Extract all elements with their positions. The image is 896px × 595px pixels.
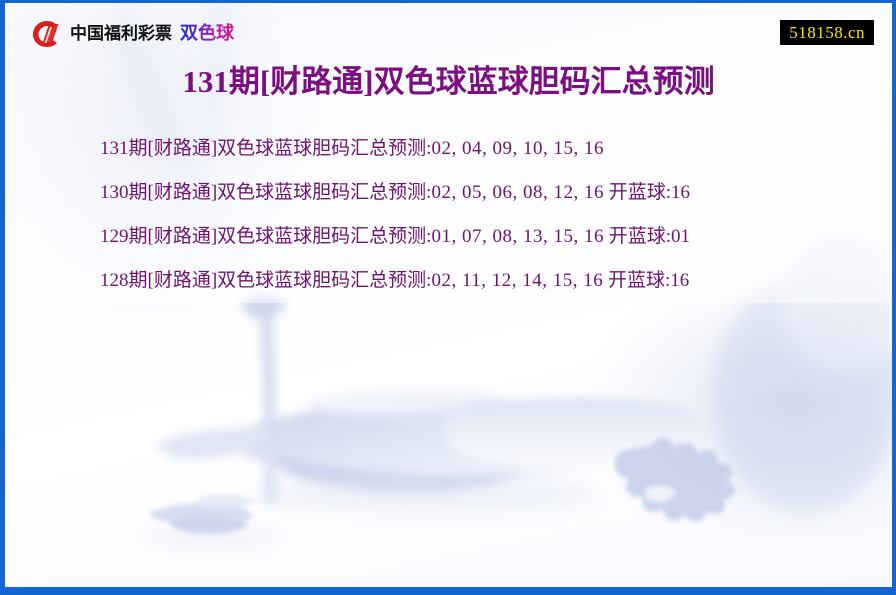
china-welfare-lottery-logo-icon (32, 20, 62, 48)
row-numbers: 01, 07, 08, 13, 15, 16 (431, 226, 604, 247)
brand-product: 双色球 (180, 20, 234, 48)
prediction-row: 131期[财路通]双色球蓝球胆码汇总预测:02, 04, 09, 10, 15,… (100, 127, 892, 171)
row-label: 128期[财路通]双色球蓝球胆码汇总预测: (100, 270, 431, 291)
site-badge[interactable]: 518158.cn (780, 20, 874, 45)
prediction-row: 130期[财路通]双色球蓝球胆码汇总预测:02, 05, 06, 08, 12,… (100, 171, 892, 215)
prediction-row: 129期[财路通]双色球蓝球胆码汇总预测:01, 07, 08, 13, 15,… (100, 215, 892, 259)
row-numbers: 02, 05, 06, 08, 12, 16 (431, 182, 604, 203)
brand-logo[interactable]: 中国福利彩票 双色球 (32, 20, 234, 48)
page-title: 131期[财路通]双色球蓝球胆码汇总预测 (5, 62, 892, 102)
row-result: 开蓝球:16 (604, 182, 690, 203)
row-result: 开蓝球:16 (603, 270, 689, 291)
row-result: 开蓝球:01 (604, 226, 690, 247)
brand-name: 中国福利彩票 (70, 20, 172, 48)
prediction-row: 128期[财路通]双色球蓝球胆码汇总预测:02, 11, 12, 14, 15,… (100, 259, 892, 303)
site-header: 中国福利彩票 双色球 518158.cn (5, 3, 892, 56)
page-root: 中国福利彩票 双色球 518158.cn 131期[财路通]双色球蓝球胆码汇总预… (0, 0, 896, 595)
row-label: 130期[财路通]双色球蓝球胆码汇总预测: (100, 182, 431, 203)
row-numbers: 02, 04, 09, 10, 15, 16 (431, 138, 604, 159)
row-label: 131期[财路通]双色球蓝球胆码汇总预测: (100, 138, 431, 159)
row-numbers: 02, 11, 12, 14, 15, 16 (431, 270, 603, 291)
prediction-list: 131期[财路通]双色球蓝球胆码汇总预测:02, 04, 09, 10, 15,… (5, 127, 892, 303)
row-label: 129期[财路通]双色球蓝球胆码汇总预测: (100, 226, 431, 247)
